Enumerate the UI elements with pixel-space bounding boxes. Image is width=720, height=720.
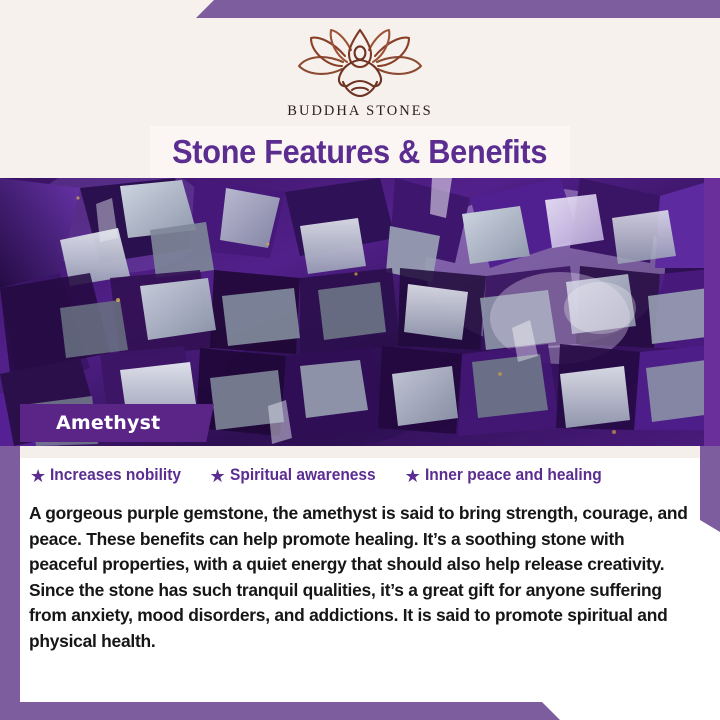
stone-name-banner: Amethyst bbox=[20, 404, 214, 442]
brand-name: BUDDHA STONES bbox=[0, 103, 720, 120]
benefit-item: ★ Spiritual awareness bbox=[210, 466, 385, 485]
right-accent-tab bbox=[700, 446, 720, 532]
stone-description: A gorgeous purple gemstone, the amethyst… bbox=[29, 501, 697, 654]
benefit-label: Inner peace and healing bbox=[425, 466, 602, 485]
stone-name: Amethyst bbox=[20, 412, 160, 434]
top-accent-bar bbox=[196, 0, 720, 18]
brand-logo: BUDDHA STONES bbox=[0, 26, 720, 120]
page-title: Stone Features & Benefits bbox=[172, 133, 547, 171]
content-top-strip bbox=[0, 446, 720, 458]
title-plate: Stone Features & Benefits bbox=[150, 126, 570, 178]
star-icon: ★ bbox=[405, 467, 421, 485]
benefit-label: Increases nobility bbox=[50, 466, 181, 485]
star-icon: ★ bbox=[30, 467, 46, 485]
infographic-page: BUDDHA STONES Stone Features & Benefits bbox=[0, 0, 720, 720]
benefit-item: ★ Increases nobility bbox=[30, 466, 190, 485]
lotus-meditation-icon bbox=[285, 26, 435, 98]
star-icon: ★ bbox=[210, 467, 226, 485]
left-accent-rail bbox=[0, 446, 20, 702]
benefit-label: Spiritual awareness bbox=[230, 466, 376, 485]
benefits-row: ★ Increases nobility ★ Spiritual awarene… bbox=[30, 466, 698, 485]
benefit-item: ★ Inner peace and healing bbox=[405, 466, 613, 485]
